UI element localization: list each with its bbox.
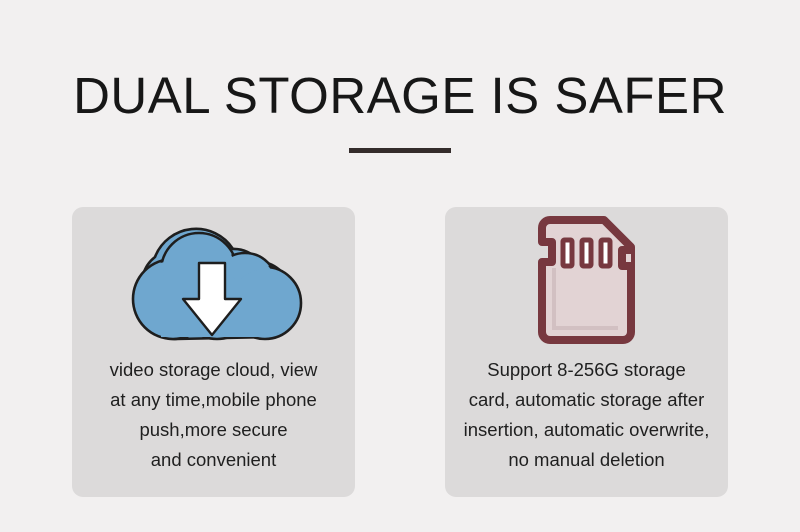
- card-line: Support 8-256G storage: [449, 355, 724, 385]
- promo-banner: DUAL STORAGE IS SAFER: [0, 0, 800, 532]
- card-description-sd: Support 8-256G storage card, automatic s…: [449, 355, 724, 475]
- feature-card-sd-card-storage: Support 8-256G storage card, automatic s…: [445, 207, 728, 497]
- page-title: DUAL STORAGE IS SAFER: [0, 68, 800, 123]
- card-line: push,more secure: [76, 415, 351, 445]
- feature-card-cloud-storage: video storage cloud, view at any time,mo…: [72, 207, 355, 497]
- card-line: insertion, automatic overwrite,: [449, 415, 724, 445]
- cloud-download-icon: [72, 207, 355, 352]
- card-line: card, automatic storage after: [449, 385, 724, 415]
- sd-card-icon: [445, 207, 728, 352]
- card-line: no manual deletion: [449, 445, 724, 475]
- title-underline-rule: [349, 148, 451, 153]
- card-description-cloud: video storage cloud, view at any time,mo…: [76, 355, 351, 475]
- card-line: and convenient: [76, 445, 351, 475]
- card-line: video storage cloud, view: [76, 355, 351, 385]
- card-line: at any time,mobile phone: [76, 385, 351, 415]
